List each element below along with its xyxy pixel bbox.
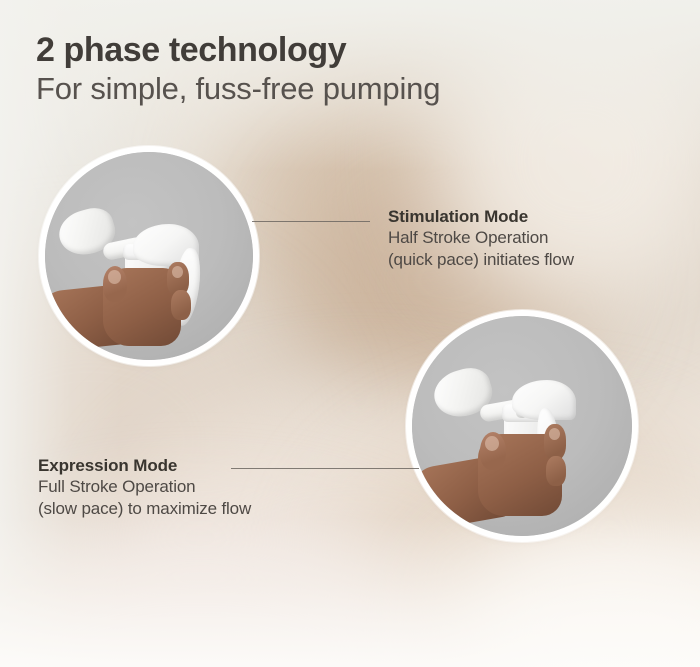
callout-expression-line2: (slow pace) to maximize flow (38, 498, 358, 520)
hand-thumb (480, 432, 506, 470)
hand-thumb (103, 266, 127, 302)
infographic-canvas: 2 phase technology For simple, fuss-free… (0, 0, 700, 667)
breast-pump-illustration: Pigeon (412, 316, 632, 536)
hand-finger (546, 456, 566, 486)
page-title: 2 phase technology (36, 32, 656, 68)
breast-pump-illustration: Pigeon (45, 152, 253, 360)
callout-stimulation: Stimulation Mode Half Stroke Operation (… (388, 206, 678, 271)
page-subtitle: For simple, fuss-free pumping (36, 72, 656, 107)
photo-circle-expression: Pigeon (412, 316, 632, 536)
hand-finger (171, 290, 191, 320)
finger-nail (549, 428, 560, 440)
callout-stimulation-title: Stimulation Mode (388, 206, 678, 227)
callout-stimulation-line2: (quick pace) initiates flow (388, 249, 678, 271)
thumb-nail (108, 270, 121, 284)
callout-expression-title: Expression Mode (38, 455, 358, 476)
callout-stimulation-line1: Half Stroke Operation (388, 227, 678, 249)
finger-nail (172, 266, 183, 278)
photo-circle-stimulation: Pigeon (45, 152, 253, 360)
heading-block: 2 phase technology For simple, fuss-free… (36, 32, 656, 107)
leader-line-stimulation (252, 221, 370, 222)
callout-expression-line1: Full Stroke Operation (38, 476, 358, 498)
hand-finger (544, 424, 566, 460)
background-bottom-highlight (0, 517, 700, 667)
callout-expression: Expression Mode Full Stroke Operation (s… (38, 455, 358, 520)
thumb-nail (485, 436, 499, 451)
